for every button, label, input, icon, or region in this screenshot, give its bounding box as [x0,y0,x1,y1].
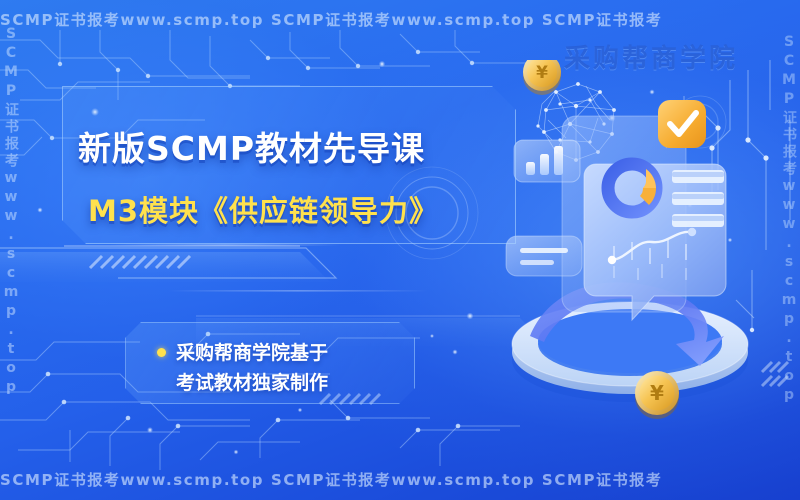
bar-chart [514,140,580,182]
watermark-top: SCMP证书报考www.scmp.top SCMP证书报考www.scmp.to… [0,6,800,32]
page-title: 新版SCMP教材先导课 [78,122,508,170]
bar-rows [672,170,724,227]
svg-text:¥: ¥ [650,381,664,405]
watermark-top-text: SCMP证书报考www.scmp.top SCMP证书报考www.scmp.to… [0,9,686,30]
watermark-bottom: SCMP证书报考www.scmp.top SCMP证书报考www.scmp.to… [0,466,800,492]
bullet-line-2: 考试教材独家制作 [176,368,406,398]
text-chip [506,236,582,276]
dashboard-illustration: ¥ ¥ [500,60,800,460]
check-icon [658,100,706,148]
hatch-stripes-left [90,256,190,268]
sweep-highlight [110,244,428,292]
watermark-left: SCMP证书报考www.scmp.top [0,0,25,500]
bullet-text: 采购帮商学院基于 考试教材独家制作 [176,338,406,398]
watermark-bottom-text: SCMP证书报考www.scmp.top SCMP证书报考www.scmp.to… [0,469,686,490]
watermark-right-text: SCMP证书报考www.scmp.top [779,0,799,406]
poster-canvas: ¥ ¥ 新版SCMP教材先导课 M3模块《供应链领导力》 采购帮商学院基于 考试… [0,0,800,500]
bullet-line-1: 采购帮商学院基于 [176,338,406,368]
brand-name: 采购帮商学院 [564,38,738,75]
coin-icon-upper: ¥ [523,60,561,95]
coin-icon-lower: ¥ [635,371,679,419]
page-subtitle: M3模块《供应链领导力》 [88,188,508,230]
bullet-dot-icon [157,348,166,357]
svg-text:¥: ¥ [536,63,548,83]
watermark-right: SCMP证书报考www.scmp.top [775,0,800,500]
watermark-left-text: SCMP证书报考www.scmp.top [1,0,21,398]
